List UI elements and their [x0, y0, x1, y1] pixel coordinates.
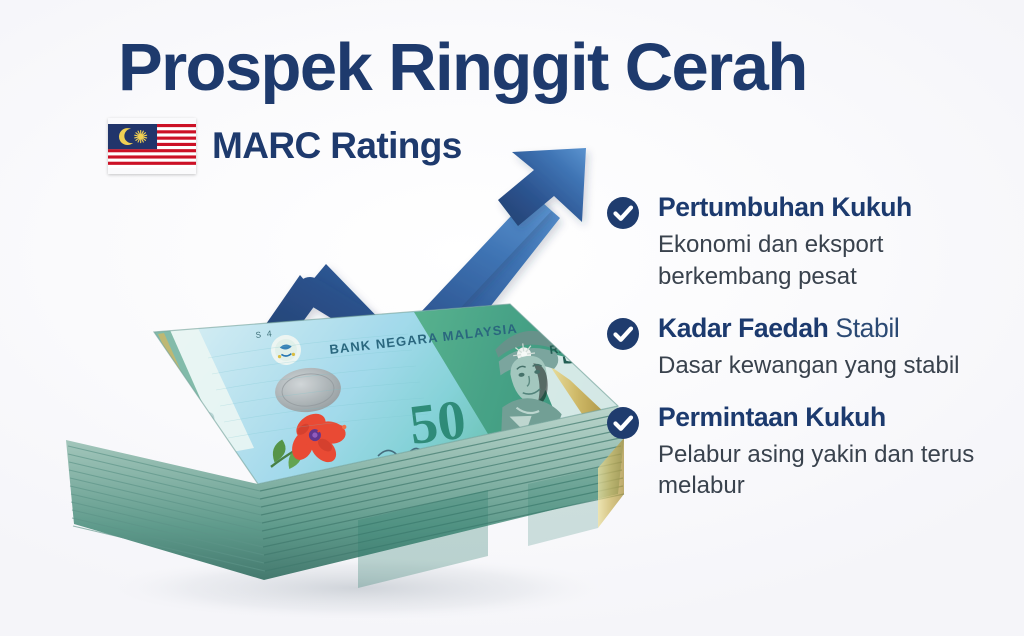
- check-circle-icon: [606, 406, 640, 440]
- benefit-title: Pertumbuhan Kukuh: [658, 192, 1006, 223]
- benefit-title: Permintaan Kukuh: [658, 402, 1006, 433]
- benefit-title: Kadar Faedah Stabil: [658, 313, 1006, 344]
- infographic-canvas: Prospek Ringgit Cerah: [0, 0, 1024, 636]
- ringgit-banknote-stack: 50 BANK NEGARA MALAYSIA S 4: [58, 288, 638, 618]
- list-item: Pertumbuhan Kukuh Ekonomi dan eksport be…: [606, 192, 1006, 293]
- benefits-list: Pertumbuhan Kukuh Ekonomi dan eksport be…: [606, 192, 1006, 502]
- benefit-title-bold: Permintaan Kukuh: [658, 402, 886, 432]
- malaysia-flag-icon: [108, 118, 196, 174]
- list-item: Permintaan Kukuh Pelabur asing yakin dan…: [606, 402, 1006, 503]
- benefit-title-bold: Pertumbuhan Kukuh: [658, 192, 912, 222]
- benefit-title-light: Stabil: [828, 313, 899, 343]
- banknote-stack-illustration: 50 BANK NEGARA MALAYSIA S 4: [58, 288, 638, 618]
- benefit-description: Dasar kewangan yang stabil: [658, 350, 988, 382]
- check-circle-icon: [606, 317, 640, 351]
- check-circle-icon: [606, 196, 640, 230]
- benefit-title-bold: Kadar Faedah: [658, 313, 828, 343]
- benefit-description: Ekonomi dan eksport berkembang pesat: [658, 229, 988, 292]
- page-title: Prospek Ringgit Cerah: [118, 34, 918, 101]
- benefit-description: Pelabur asing yakin dan terus melabur: [658, 439, 988, 502]
- list-item: Kadar Faedah Stabil Dasar kewangan yang …: [606, 313, 1006, 382]
